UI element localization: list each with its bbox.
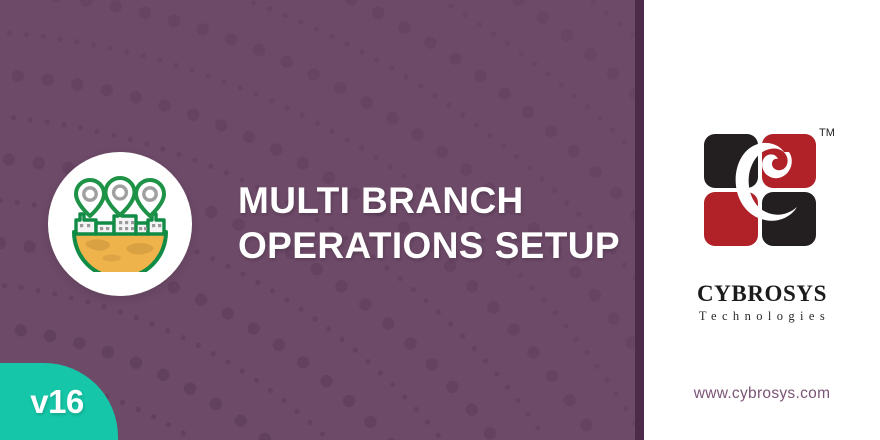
brand-tagline: Technologies [644,309,880,324]
website-url[interactable]: www.cybrosys.com [644,385,880,403]
title-line-2: OPERATIONS SETUP [238,223,618,268]
cybrosys-logo: TM [688,120,836,252]
multi-branch-globe-icon [68,176,172,272]
title-line-1: MULTI BRANCH [238,178,618,223]
right-brand-panel: TM CYBROSYS Technologies www.cybrosys.co… [644,0,880,440]
version-badge-label: v16 [30,385,84,418]
promo-banner: MULTI BRANCH OPERATIONS SETUP v16 TM CYB… [0,0,880,440]
brand-name: CYBROSYS [644,281,880,306]
panel-divider-stripe [635,0,644,440]
page-title: MULTI BRANCH OPERATIONS SETUP [238,178,618,268]
trademark-symbol: TM [819,127,835,139]
left-purple-panel: MULTI BRANCH OPERATIONS SETUP v16 [0,0,635,440]
feature-icon-circle [48,152,192,296]
version-badge: v16 [0,363,118,440]
